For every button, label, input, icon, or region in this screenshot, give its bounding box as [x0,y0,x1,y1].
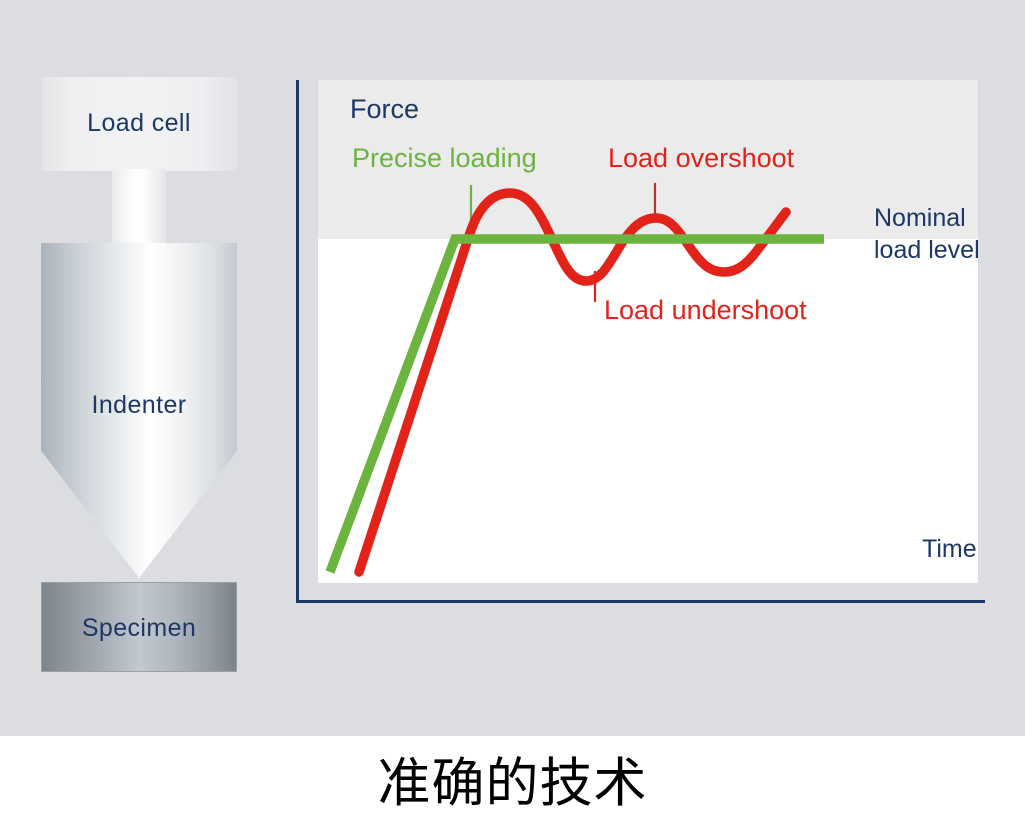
annotation-load-overshoot: Load overshoot [608,143,794,174]
load-cell-block: Load cell [41,77,237,171]
figure-caption-text: 准确的技术 [378,741,648,817]
y-axis-line [296,80,299,603]
indenter-block: Indenter [41,243,237,578]
force-time-chart: Force Precise loading Load overshoot Loa… [296,76,988,603]
load-cell-label: Load cell [41,109,237,138]
figure-caption: 准确的技术 [0,736,1025,821]
precise-load-curve [330,239,824,572]
plot-area: Force Precise loading Load overshoot Loa… [318,80,978,583]
x-axis-label: Time [922,535,977,564]
figure-root: Load cell Indenter Specimen [0,0,1025,821]
annotation-load-undershoot: Load undershoot [604,295,807,326]
annotation-precise-loading: Precise loading [352,143,537,174]
nominal-load-level-line-1: Nominal [874,202,980,234]
x-axis-line [296,600,985,603]
indenter-label: Indenter [41,391,237,420]
indenter-shaft [112,169,166,249]
oscillating-load-curve [359,193,786,572]
nominal-load-level-line-2: load level [874,234,980,266]
specimen-label: Specimen [42,614,236,643]
indentation-apparatus-diagram: Load cell Indenter Specimen [41,77,237,602]
specimen-block: Specimen [41,582,237,672]
y-axis-label: Force [350,94,419,125]
annotation-nominal-load-level: Nominal load level [874,202,980,266]
